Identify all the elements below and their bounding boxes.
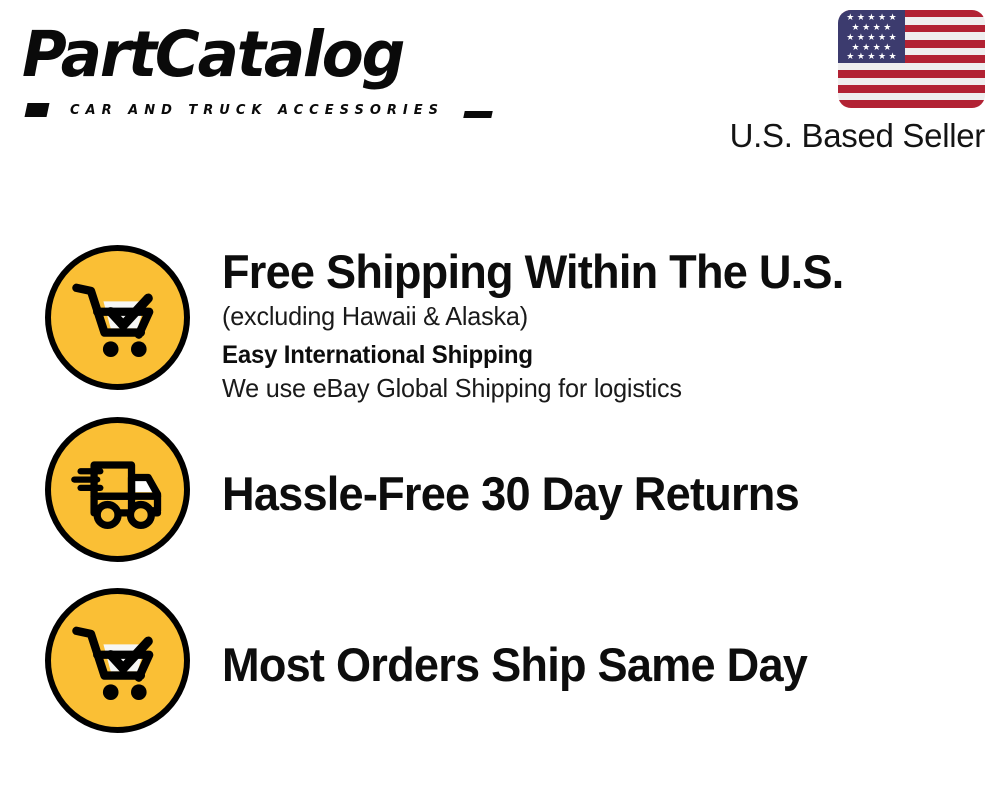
feature-row: Free Shipping Within The U.S. (excluding… <box>0 240 1000 410</box>
tagline-dash-right-icon <box>463 111 492 118</box>
flag-canton: ★ ★ ★ ★ ★ ★ ★ ★ ★ ★ ★ ★ ★ ★ ★ ★ ★ ★ ★ ★ … <box>838 10 905 63</box>
flag-stripe <box>838 70 985 77</box>
brand-tagline-row: CAR AND TRUCK ACCESSORIES <box>26 102 492 120</box>
flag-stripe <box>838 85 985 92</box>
flag-star-row: ★ ★ ★ ★ <box>838 23 905 32</box>
feature-note: We use eBay Global Shipping for logistic… <box>222 371 940 405</box>
feature-title: Free Shipping Within The U.S. <box>222 245 932 299</box>
page-header: PartCatalog CAR AND TRUCK ACCESSORIES ★ … <box>0 0 1000 170</box>
feature-strong: Easy International Shipping <box>222 339 932 371</box>
us-flag-icon: ★ ★ ★ ★ ★ ★ ★ ★ ★ ★ ★ ★ ★ ★ ★ ★ ★ ★ ★ ★ … <box>838 10 985 108</box>
delivery-truck-icon <box>45 417 190 562</box>
seller-location-note: U.S. Based Seller <box>600 116 985 156</box>
flag-star-row: ★ ★ ★ ★ ★ <box>838 52 905 61</box>
shopping-cart-check-icon <box>45 588 190 733</box>
flag-star-row: ★ ★ ★ ★ ★ <box>838 13 905 22</box>
tagline-dash-left-icon <box>25 103 50 117</box>
brand-tagline: CAR AND TRUCK ACCESSORIES <box>70 102 444 119</box>
brand-logo[interactable]: PartCatalog CAR AND TRUCK ACCESSORIES <box>22 18 492 113</box>
feature-text-block: Hassle-Free 30 Day Returns <box>222 467 962 521</box>
feature-text-block: Most Orders Ship Same Day <box>222 638 962 692</box>
flag-stripe <box>838 100 985 107</box>
feature-list: Free Shipping Within The U.S. (excluding… <box>0 240 1000 760</box>
feature-title: Most Orders Ship Same Day <box>222 638 932 692</box>
feature-text-block: Free Shipping Within The U.S. (excluding… <box>222 245 962 405</box>
shopping-cart-check-icon <box>45 245 190 390</box>
feature-row: Most Orders Ship Same Day <box>0 583 1000 753</box>
feature-subtitle: (excluding Hawaii & Alaska) <box>222 299 940 333</box>
feature-row: Hassle-Free 30 Day Returns <box>0 412 1000 582</box>
brand-wordmark: PartCatalog <box>22 18 403 92</box>
flag-star-row: ★ ★ ★ ★ ★ <box>838 33 905 42</box>
feature-title: Hassle-Free 30 Day Returns <box>222 467 932 521</box>
